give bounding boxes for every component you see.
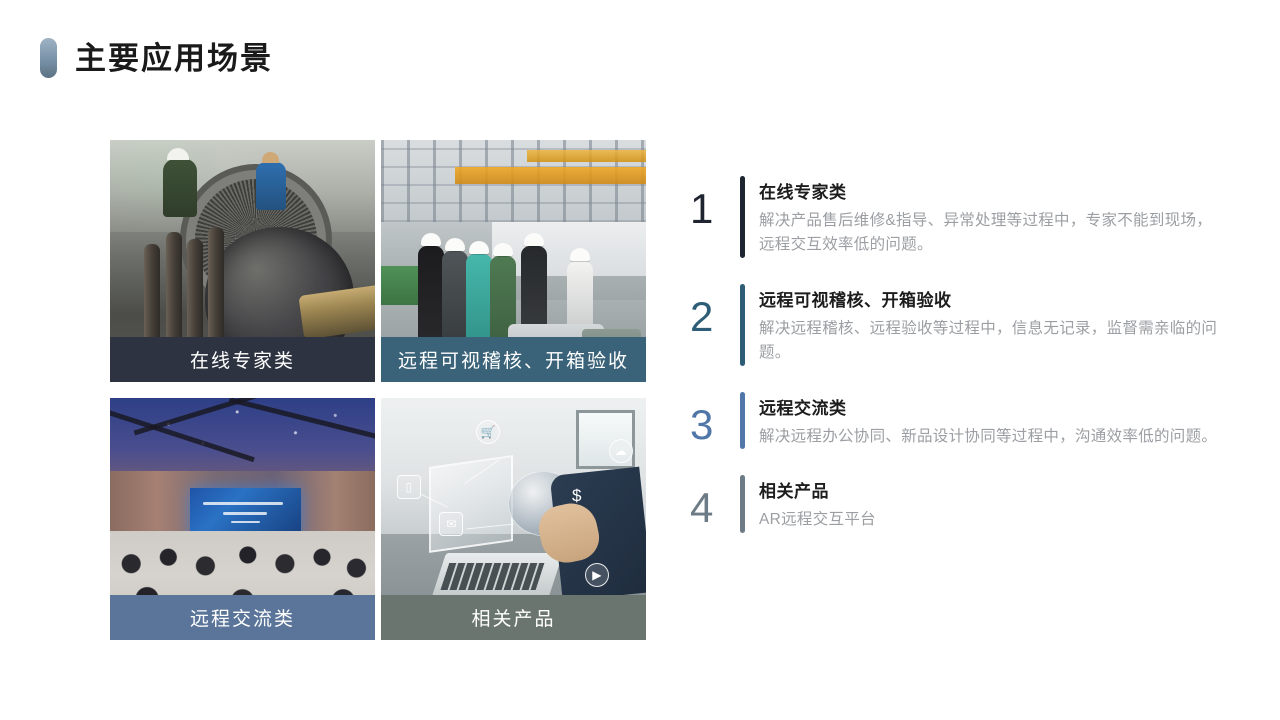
photo-worker xyxy=(256,162,286,210)
feature-accent-bar xyxy=(740,284,745,366)
photo-laptop-keyboard xyxy=(440,563,544,590)
picture-card-related-product[interactable]: 🛒 ☁ ▯ ✉ $ ▭ ▶ 相关产品 xyxy=(381,398,646,640)
feature-number: 4 xyxy=(690,475,738,529)
cart-icon: 🛒 xyxy=(476,420,500,444)
feature-description: 解决远程办公协同、新品设计协同等过程中，沟通效率低的问题。 xyxy=(759,425,1220,449)
picture-caption: 远程交流类 xyxy=(110,595,375,640)
photo-bolt xyxy=(208,227,224,353)
phone-icon: ▯ xyxy=(397,475,421,499)
picture-card-online-expert[interactable]: 在线专家类 xyxy=(110,140,375,382)
feature-title: 相关产品 xyxy=(759,477,1220,502)
photo-crane xyxy=(527,150,646,162)
feature-text-block: 在线专家类 解决产品售后维修&指导、异常处理等过程中，专家不能到现场，远程交互效… xyxy=(759,176,1220,258)
feature-accent-bar xyxy=(740,475,745,532)
feature-description: AR远程交互平台 xyxy=(759,508,1220,532)
feature-item-3[interactable]: 3 远程交流类 解决远程办公协同、新品设计协同等过程中，沟通效率低的问题。 xyxy=(690,392,1220,449)
feature-title: 远程交流类 xyxy=(759,394,1220,419)
feature-number: 1 xyxy=(690,176,738,230)
photo-screen-text-line xyxy=(203,502,283,505)
feature-text-block: 远程交流类 解决远程办公协同、新品设计协同等过程中，沟通效率低的问题。 xyxy=(759,392,1220,449)
title-bullet-icon xyxy=(40,38,57,78)
slide-header: 主要应用场景 xyxy=(40,38,273,78)
picture-caption: 相关产品 xyxy=(381,595,646,640)
feature-item-2[interactable]: 2 远程可视稽核、开箱验收 解决远程稽核、远程验收等过程中，信息无记录，监督需亲… xyxy=(690,284,1220,366)
feature-title: 在线专家类 xyxy=(759,178,1220,203)
play-icon: ▶ xyxy=(585,563,609,587)
feature-description: 解决远程稽核、远程验收等过程中，信息无记录，监督需亲临的问题。 xyxy=(759,317,1220,366)
photo-bolt xyxy=(187,239,203,353)
photo-screen-text-line xyxy=(231,521,260,523)
picture-caption: 远程可视稽核、开箱验收 xyxy=(381,337,646,382)
mail-icon: ✉ xyxy=(439,512,463,536)
picture-card-remote-communication[interactable]: 远程交流类 xyxy=(110,398,375,640)
picture-card-remote-audit[interactable]: 远程可视稽核、开箱验收 xyxy=(381,140,646,382)
page-title: 主要应用场景 xyxy=(75,43,273,74)
photo-worker xyxy=(163,159,197,217)
cloud-icon: ☁ xyxy=(609,439,633,463)
feature-accent-bar xyxy=(740,392,745,449)
photo-screen-text-line xyxy=(223,512,268,515)
photo-crane xyxy=(455,167,646,184)
feature-number: 3 xyxy=(690,392,738,446)
feature-number: 2 xyxy=(690,284,738,338)
feature-text-block: 相关产品 AR远程交互平台 xyxy=(759,475,1220,532)
feature-text-block: 远程可视稽核、开箱验收 解决远程稽核、远程验收等过程中，信息无记录，监督需亲临的… xyxy=(759,284,1220,366)
photo-bolt xyxy=(166,232,182,353)
feature-description: 解决产品售后维修&指导、异常处理等过程中，专家不能到现场，远程交互效率低的问题。 xyxy=(759,209,1220,258)
picture-grid: 在线专家类 远程可视稽核、开箱验收 xyxy=(110,140,646,640)
feature-accent-bar xyxy=(740,176,745,258)
feature-item-4[interactable]: 4 相关产品 AR远程交互平台 xyxy=(690,475,1220,532)
dollar-icon: $ xyxy=(566,485,588,507)
feature-list: 1 在线专家类 解决产品售后维修&指导、异常处理等过程中，专家不能到现场，远程交… xyxy=(690,176,1220,559)
feature-title: 远程可视稽核、开箱验收 xyxy=(759,286,1220,311)
feature-item-1[interactable]: 1 在线专家类 解决产品售后维修&指导、异常处理等过程中，专家不能到现场，远程交… xyxy=(690,176,1220,258)
picture-caption: 在线专家类 xyxy=(110,337,375,382)
